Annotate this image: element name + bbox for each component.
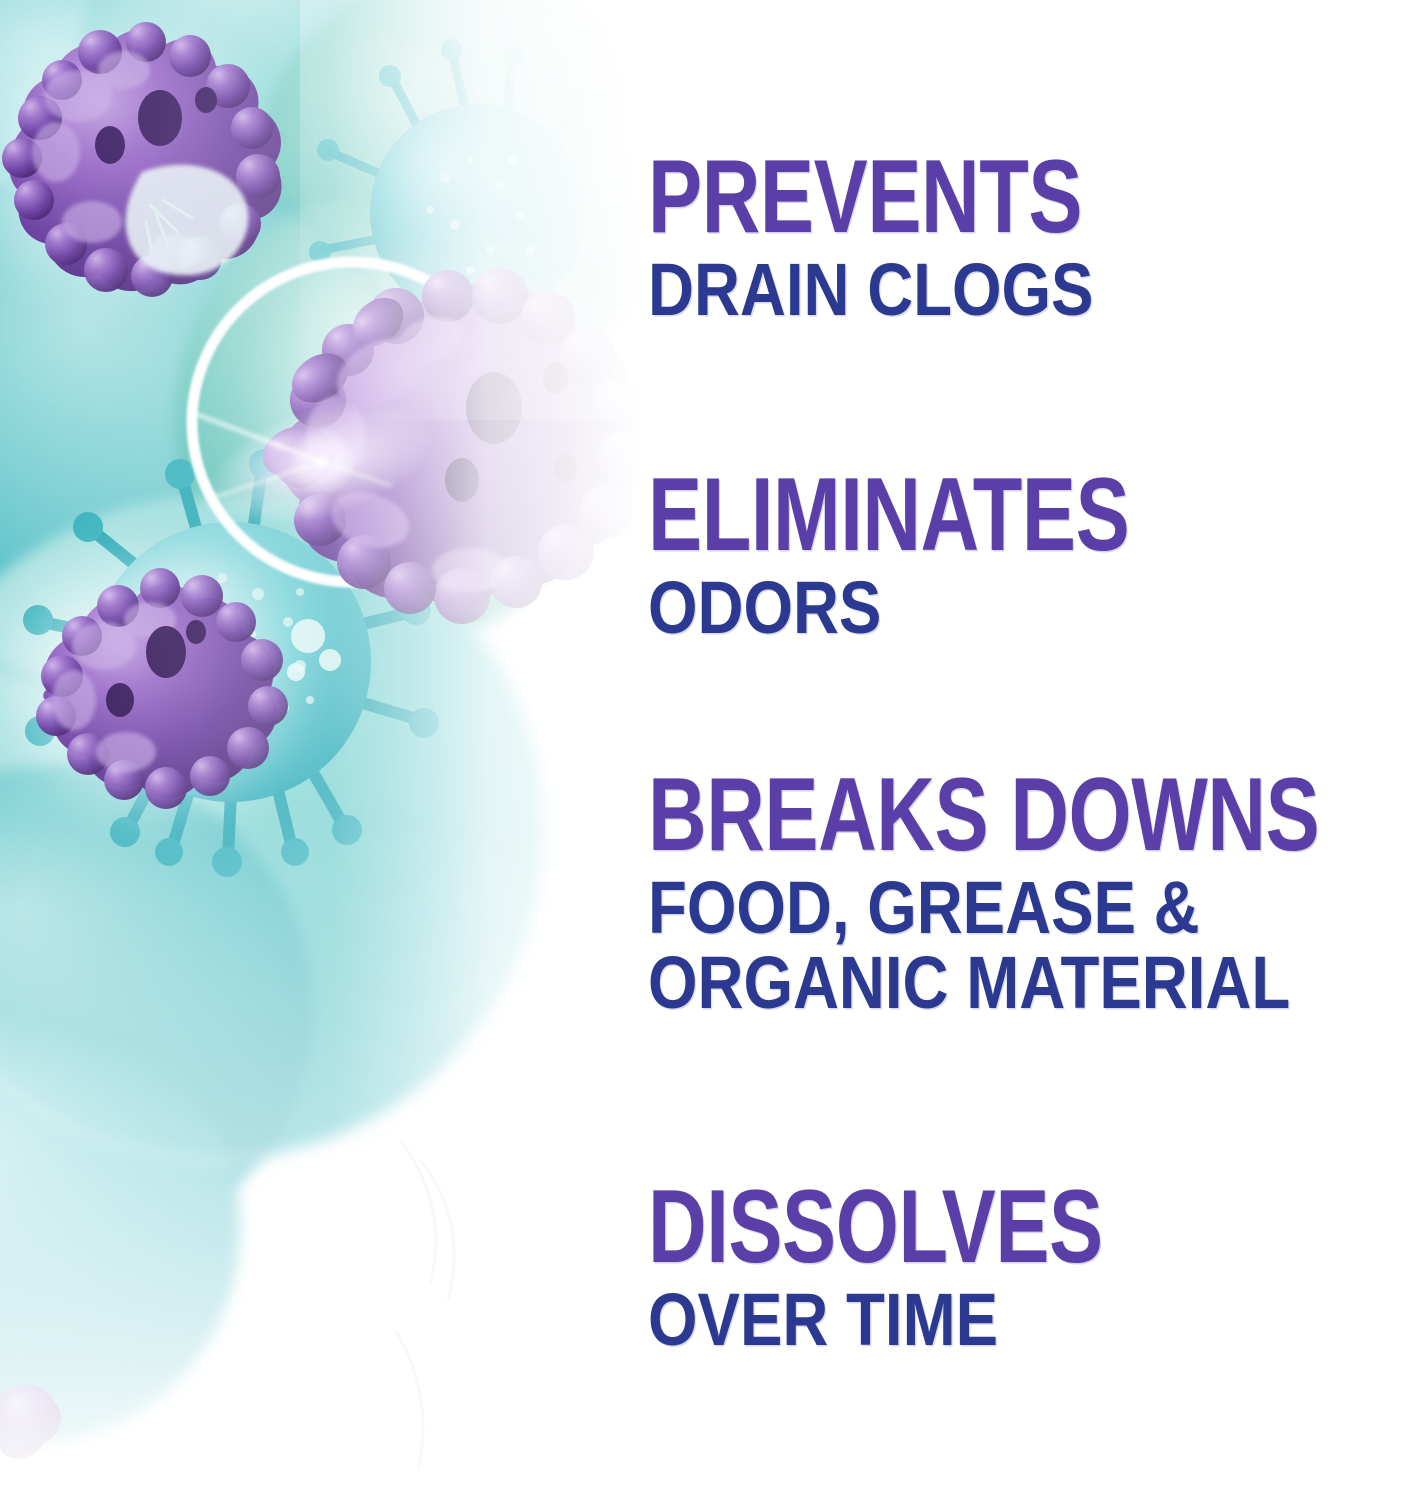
fade-bottom <box>0 820 640 1500</box>
benefit-item-prevents: PREVENTS DRAIN CLOGS <box>648 150 1205 327</box>
benefit-subtext: ODORS <box>648 570 1179 645</box>
benefit-subline: OVER TIME <box>648 1282 1149 1357</box>
benefit-item-eliminates: ELIMINATES ODORS <box>648 468 1265 645</box>
product-benefits-poster: PREVENTS DRAIN CLOGS ELIMINATES ODORS BR… <box>0 0 1411 1500</box>
benefits-list: PREVENTS DRAIN CLOGS ELIMINATES ODORS BR… <box>648 0 1408 1500</box>
benefit-headline: DISSOLVES <box>648 1180 1103 1276</box>
benefit-subline: FOOD, GREASE & <box>648 870 1388 945</box>
benefit-subtext: OVER TIME <box>648 1282 1149 1357</box>
benefit-headline: ELIMINATES <box>648 468 1129 564</box>
benefit-headline: BREAKS DOWNS <box>648 768 1319 864</box>
benefit-subtext: DRAIN CLOGS <box>648 252 1127 327</box>
benefit-headline: PREVENTS <box>648 150 1082 246</box>
benefit-subtext: FOOD, GREASE & ORGANIC MATERIAL <box>648 870 1388 1021</box>
microbe-illustration <box>0 0 640 1500</box>
benefit-subline: ODORS <box>648 570 1179 645</box>
benefit-item-dissolves: DISSOLVES OVER TIME <box>648 1180 1231 1357</box>
benefit-subline: DRAIN CLOGS <box>648 252 1127 327</box>
benefit-subline: ORGANIC MATERIAL <box>648 945 1388 1020</box>
benefit-item-breaks-downs: BREAKS DOWNS FOOD, GREASE & ORGANIC MATE… <box>648 768 1411 1021</box>
fade-top-right <box>300 0 640 420</box>
